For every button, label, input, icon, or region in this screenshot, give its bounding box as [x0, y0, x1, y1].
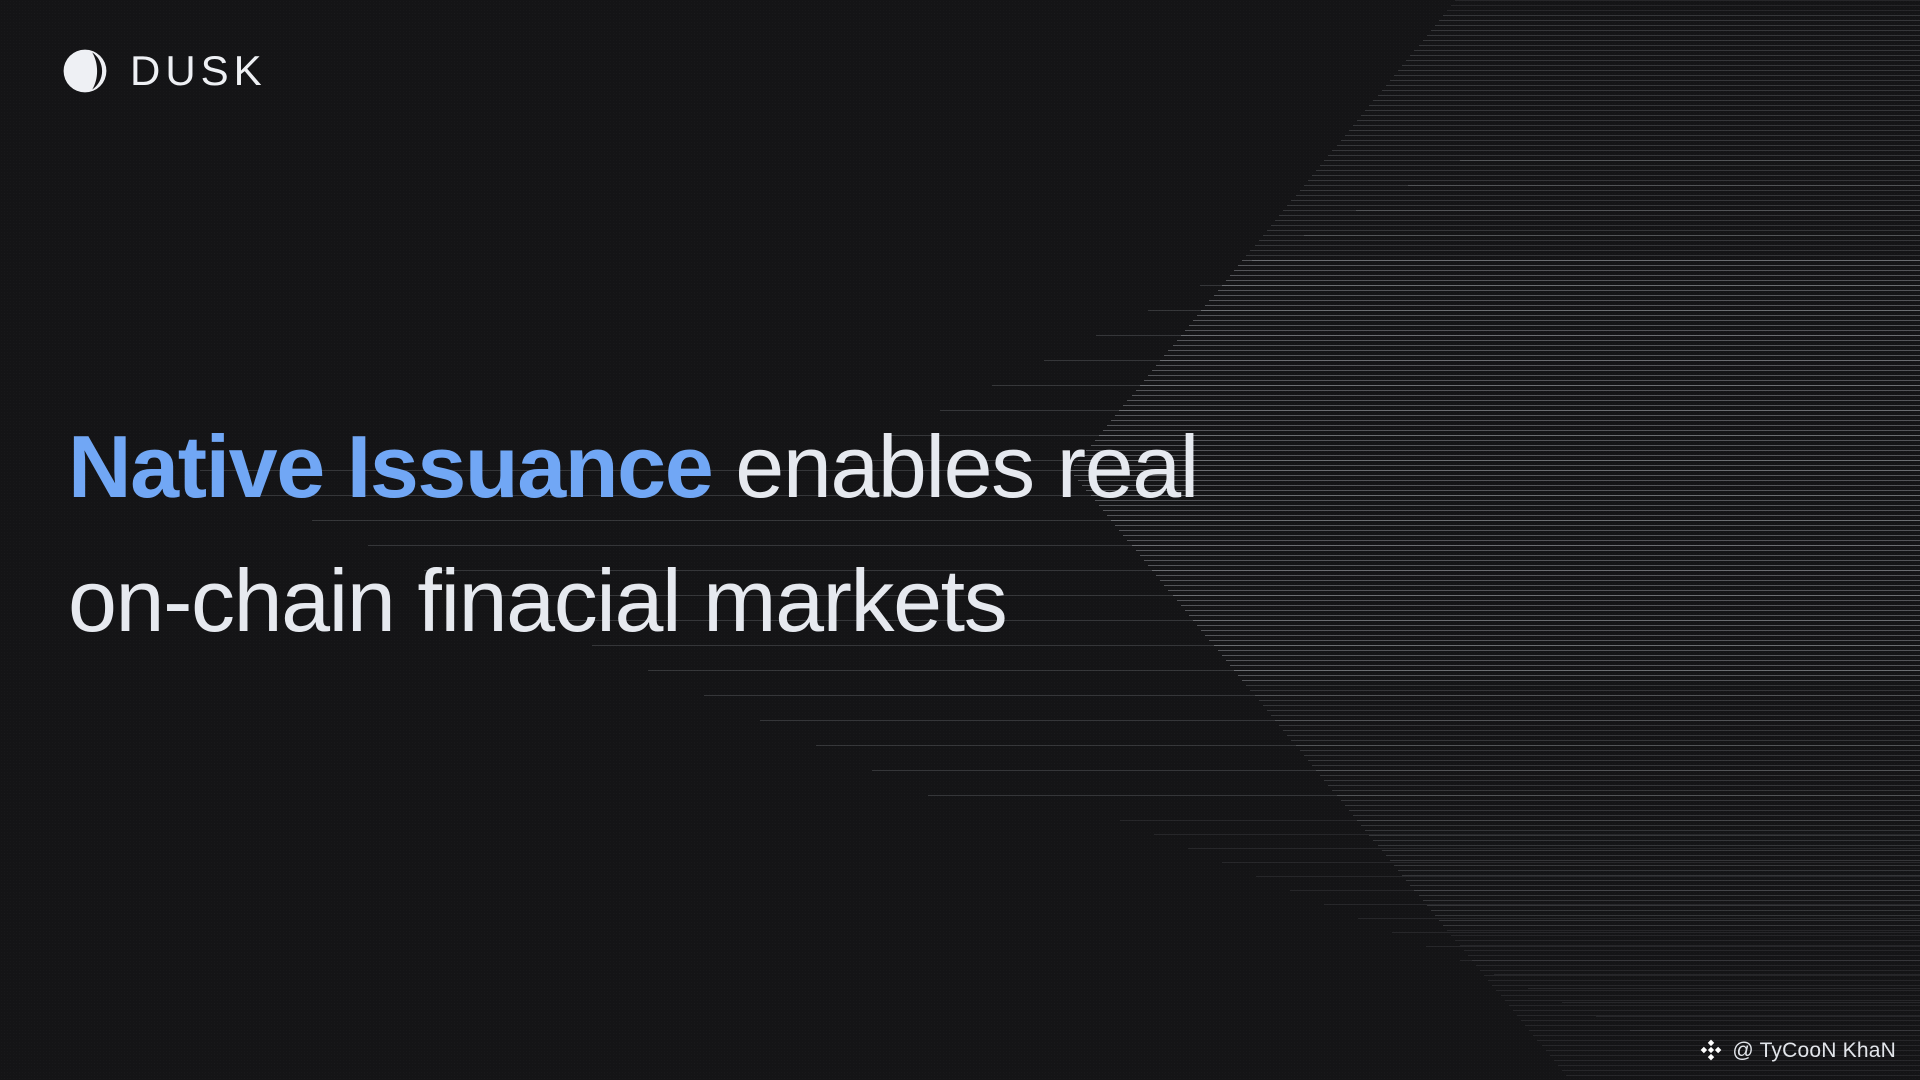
binance-diamond-icon: [1699, 1038, 1723, 1062]
watermark-handle: @ TyCooN KhaN: [1732, 1040, 1896, 1061]
brand-logo[interactable]: DUSK: [62, 48, 267, 94]
dusk-crescent-moon-icon: [62, 48, 108, 94]
headline-line2: on-chain finacial markets: [68, 534, 1628, 668]
page-title: Native Issuance enables real on-chain fi…: [68, 400, 1628, 668]
brand-wordmark: DUSK: [130, 50, 267, 92]
headline-accent: Native Issuance: [68, 417, 712, 516]
headline-rest-line1: enables real: [712, 417, 1198, 516]
slide-canvas: DUSK Native Issuance enables real on-cha…: [0, 0, 1920, 1080]
watermark: @ TyCooN KhaN: [1699, 1038, 1896, 1062]
